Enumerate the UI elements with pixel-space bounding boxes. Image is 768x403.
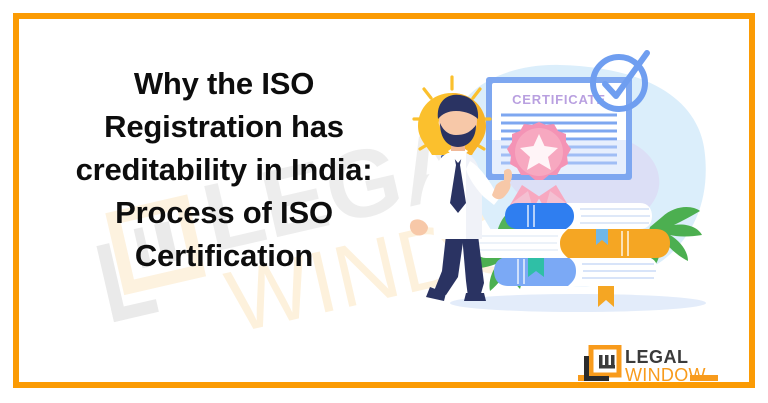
page-title: Why the ISO Registration has creditabili…	[44, 62, 404, 277]
ground-shadow	[450, 294, 706, 312]
iso-certification-illustration: CERTIFICATE	[400, 45, 730, 345]
legal-window-logo-icon	[584, 347, 619, 381]
logo-window-text: WINDOW	[625, 365, 706, 385]
certificate-title-text: CERTIFICATE	[512, 92, 606, 107]
legal-window-logo[interactable]: LEGAL WINDOW	[578, 345, 718, 389]
logo-legal-text: LEGAL	[625, 347, 689, 367]
blog-banner: LEGAL WINDOW Why the ISO Registration ha…	[0, 0, 768, 403]
